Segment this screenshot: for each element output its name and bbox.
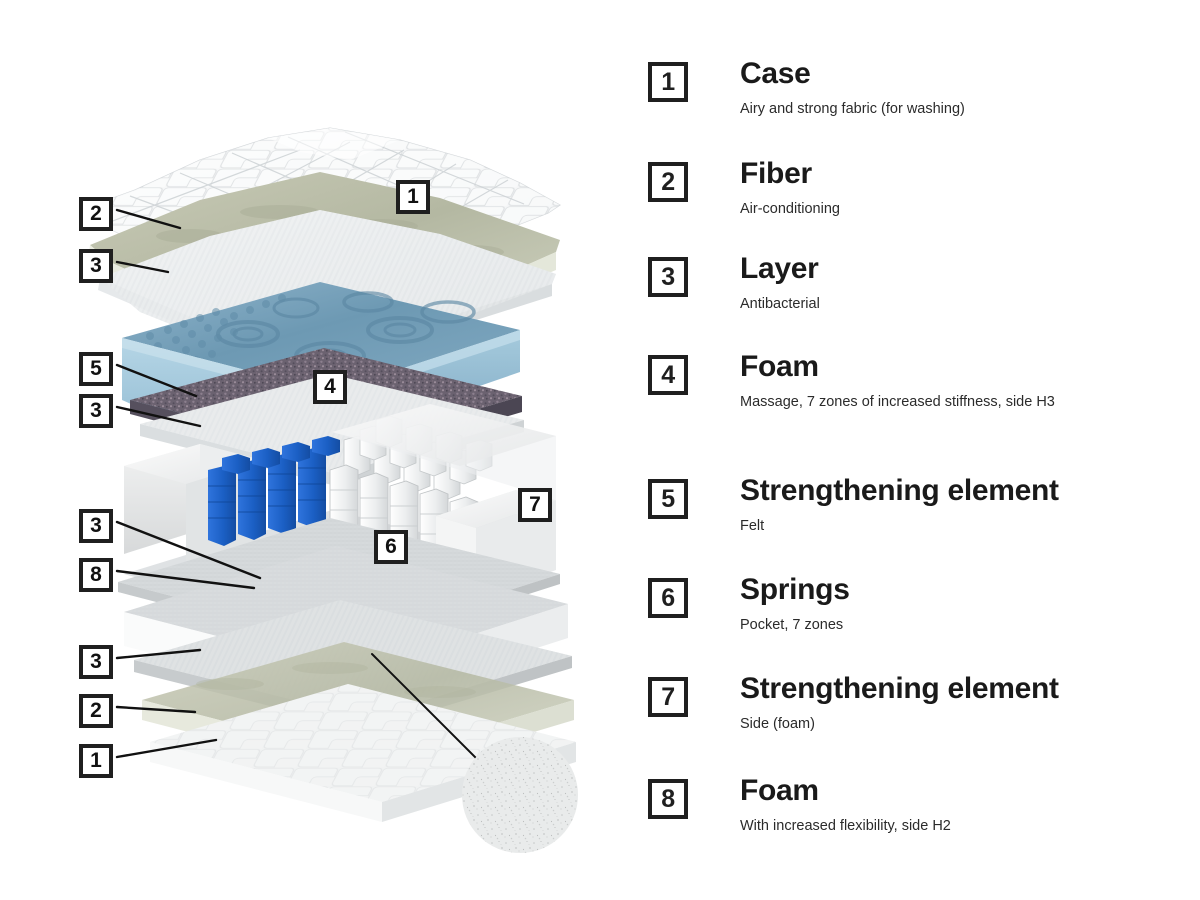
legend-text-block: Strengthening elementFelt <box>740 475 1059 537</box>
legend-subtitle: Airy and strong fabric (for washing) <box>740 99 965 120</box>
legend-item-4: 4FoamMassage, 7 zones of increased stiff… <box>648 355 1055 413</box>
foam-texture-detail-circle <box>462 737 578 853</box>
legend-subtitle: Massage, 7 zones of increased stiffness,… <box>740 392 1055 413</box>
legend-number-box-4: 4 <box>648 355 688 395</box>
legend-title: Springs <box>740 574 850 606</box>
diagram-callout-3: 3 <box>79 394 113 428</box>
mattress-layers-infographic: 1235437368321 1CaseAiry and strong fabri… <box>0 0 1200 900</box>
legend-title: Case <box>740 58 965 90</box>
legend-title: Fiber <box>740 158 840 190</box>
mattress-exploded-diagram: 1235437368321 <box>0 0 640 900</box>
legend-number-box-8: 8 <box>648 779 688 819</box>
legend-item-1: 1CaseAiry and strong fabric (for washing… <box>648 62 965 120</box>
legend-number-box-3: 3 <box>648 257 688 297</box>
legend-number-box-5: 5 <box>648 479 688 519</box>
legend-text-block: Strengthening elementSide (foam) <box>740 673 1059 735</box>
legend-title: Foam <box>740 351 1055 383</box>
diagram-callout-2: 2 <box>79 197 113 231</box>
diagram-callout-8: 8 <box>79 558 113 592</box>
legend-subtitle: Felt <box>740 516 1059 537</box>
legend-number-box-1: 1 <box>648 62 688 102</box>
legend-subtitle: With increased flexibility, side H2 <box>740 816 951 837</box>
legend-item-6: 6SpringsPocket, 7 zones <box>648 578 850 636</box>
diagram-callout-3: 3 <box>79 645 113 679</box>
legend-text-block: CaseAiry and strong fabric (for washing) <box>740 58 965 120</box>
legend-title: Layer <box>740 253 820 285</box>
legend-title: Strengthening element <box>740 673 1059 705</box>
diagram-callout-3: 3 <box>79 509 113 543</box>
diagram-callout-1: 1 <box>396 180 430 214</box>
legend-item-5: 5Strengthening elementFelt <box>648 479 1059 537</box>
legend-text-block: SpringsPocket, 7 zones <box>740 574 850 636</box>
legend-subtitle: Air-conditioning <box>740 199 840 220</box>
diagram-callout-5: 5 <box>79 352 113 386</box>
legend-text-block: LayerAntibacterial <box>740 253 820 315</box>
legend-text-block: FiberAir-conditioning <box>740 158 840 220</box>
legend-subtitle: Antibacterial <box>740 294 820 315</box>
legend-title: Strengthening element <box>740 475 1059 507</box>
diagram-callout-7: 7 <box>518 488 552 522</box>
legend-list: 1CaseAiry and strong fabric (for washing… <box>648 0 1200 900</box>
legend-item-7: 7Strengthening elementSide (foam) <box>648 677 1059 735</box>
legend-item-3: 3LayerAntibacterial <box>648 257 820 315</box>
diagram-callout-6: 6 <box>374 530 408 564</box>
legend-number-box-2: 2 <box>648 162 688 202</box>
diagram-callout-3: 3 <box>79 249 113 283</box>
diagram-callout-4: 4 <box>313 370 347 404</box>
legend-subtitle: Pocket, 7 zones <box>740 615 850 636</box>
legend-number-box-7: 7 <box>648 677 688 717</box>
legend-item-2: 2FiberAir-conditioning <box>648 162 840 220</box>
legend-item-8: 8FoamWith increased flexibility, side H2 <box>648 779 951 837</box>
diagram-callout-1: 1 <box>79 744 113 778</box>
legend-title: Foam <box>740 775 951 807</box>
legend-text-block: FoamMassage, 7 zones of increased stiffn… <box>740 351 1055 413</box>
legend-text-block: FoamWith increased flexibility, side H2 <box>740 775 951 837</box>
diagram-callout-2: 2 <box>79 694 113 728</box>
legend-subtitle: Side (foam) <box>740 714 1059 735</box>
legend-number-box-6: 6 <box>648 578 688 618</box>
